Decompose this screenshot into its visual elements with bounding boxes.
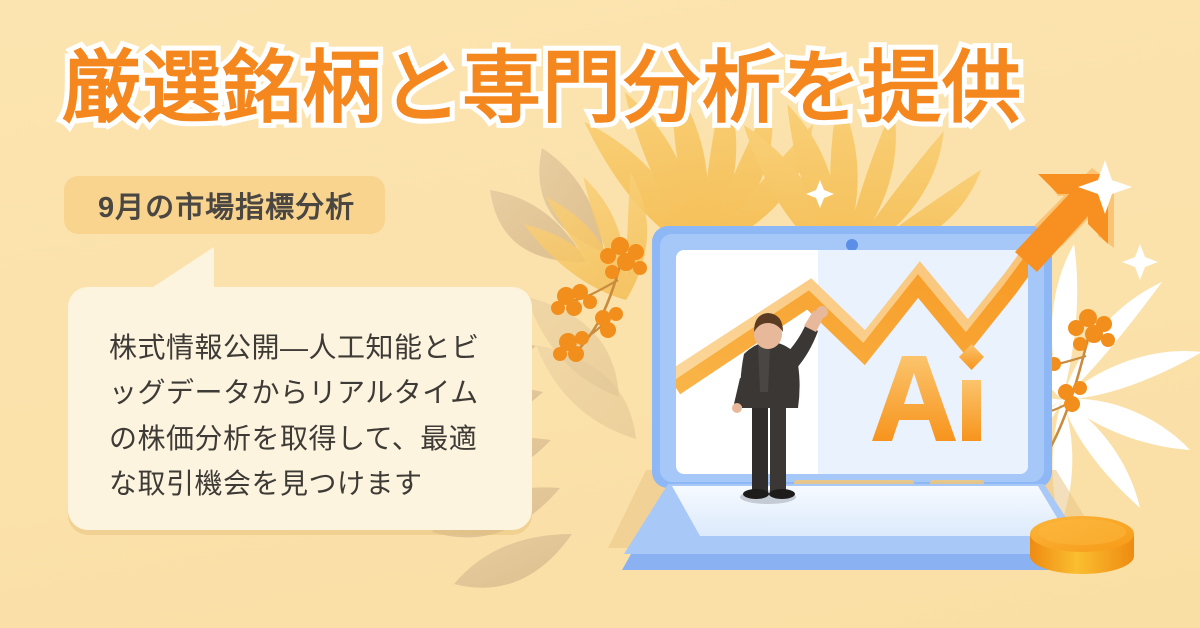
status-badge: 9月の市場指標分析 — [64, 176, 385, 234]
description-card: 株式情報公開—人工知能とビッグデータからリアルタイムの株価分析を取得して、最適な… — [68, 287, 532, 530]
webcam-dot — [846, 239, 858, 251]
page-title: 厳選銘柄と専門分析を提供 — [62, 48, 1022, 127]
status-badge-label: 9月の市場指標分析 — [98, 184, 355, 226]
laptop-base — [622, 484, 1094, 570]
promo-banner: 厳選銘柄と専門分析を提供 9月の市場指標分析 株式情報公開—人工知能とビッグデー… — [0, 0, 1200, 628]
pointing-hand — [816, 306, 828, 318]
description-text: 株式情報公開—人工知能とビッグデータからリアルタイムの株価分析を取得して、最適な… — [109, 325, 499, 506]
laptop-screen — [676, 212, 1062, 474]
speech-bubble-tail — [150, 247, 214, 289]
gold-coin — [1030, 516, 1134, 574]
sparkle-icon-medium — [1122, 244, 1158, 280]
sparkle-icon-small — [806, 180, 834, 208]
